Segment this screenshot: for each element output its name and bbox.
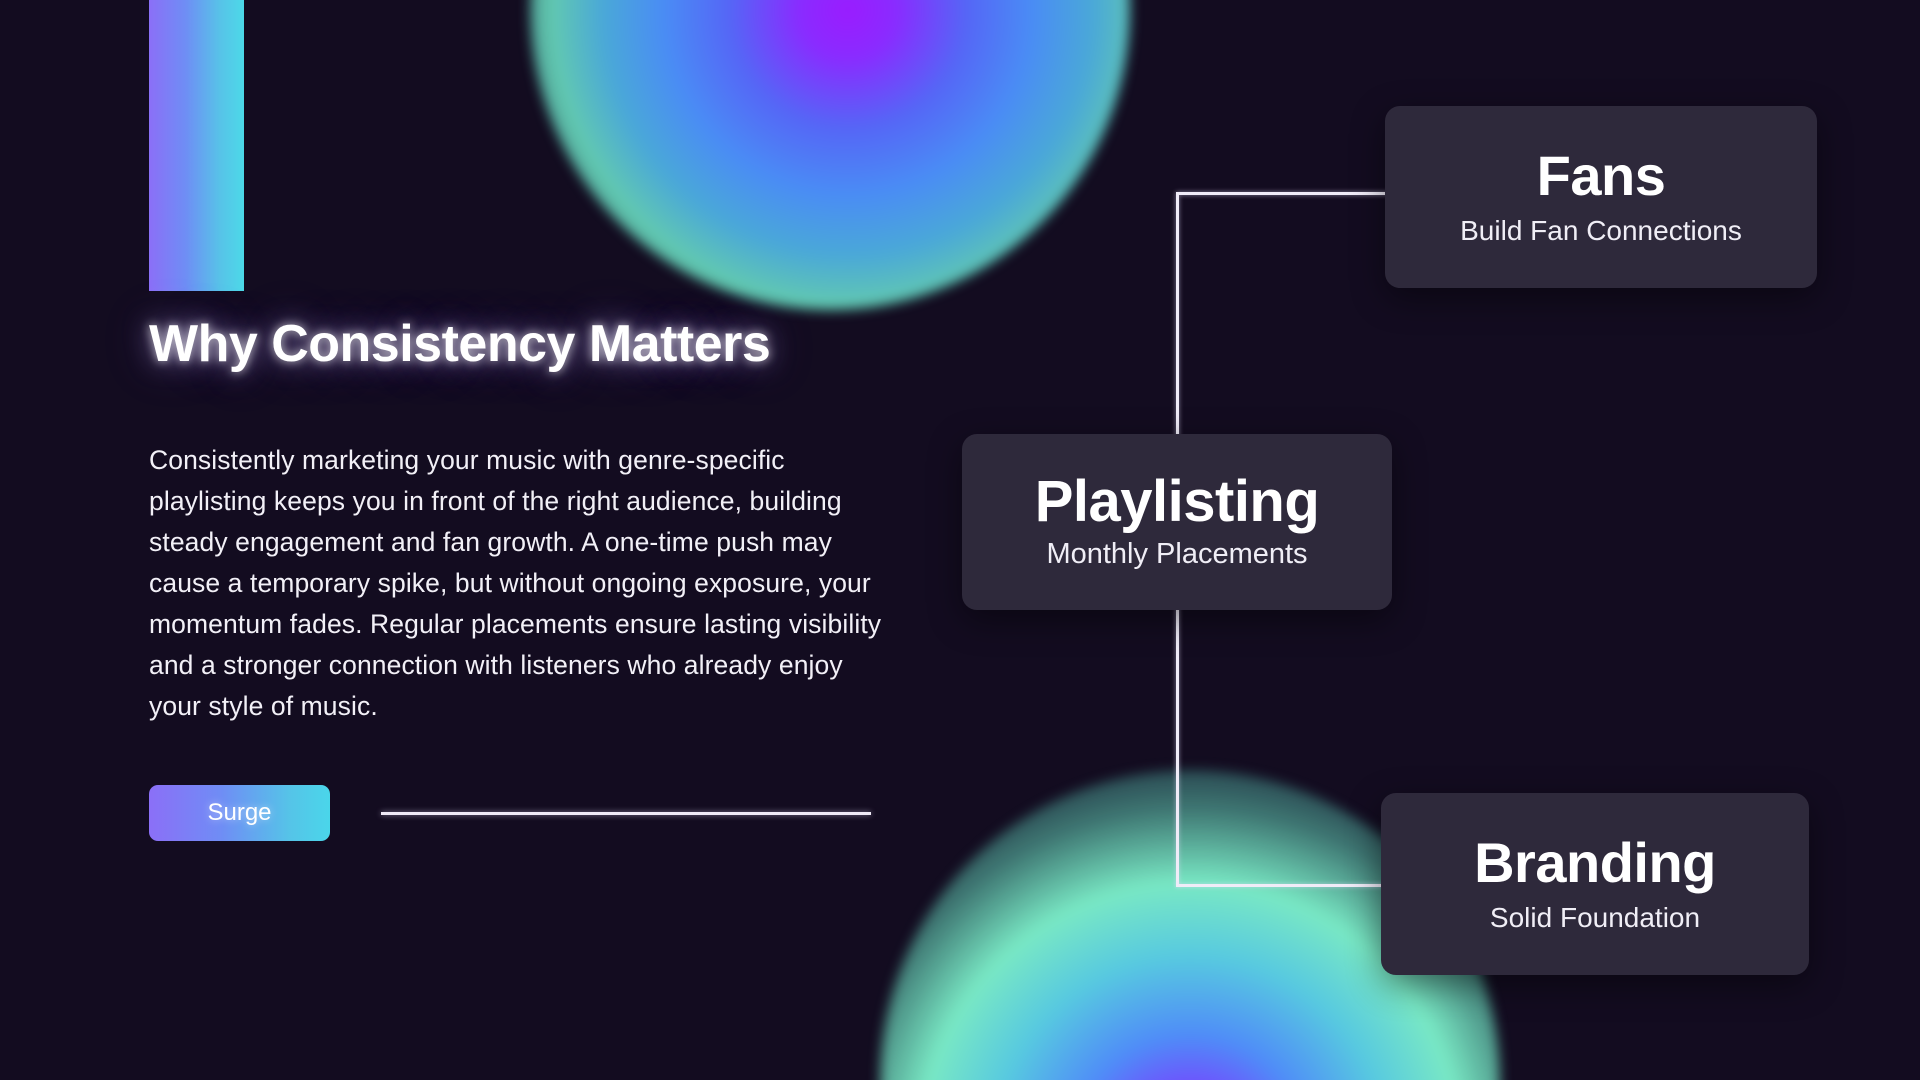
- node-title-branding: Branding: [1474, 834, 1716, 893]
- node-title-playlisting: Playlisting: [1035, 472, 1320, 533]
- node-card-branding[interactable]: Branding Solid Foundation: [1381, 793, 1809, 975]
- slide-canvas: Why Consistency Matters Consistently mar…: [0, 0, 1920, 1080]
- node-subtitle-playlisting: Monthly Placements: [1046, 537, 1307, 572]
- content-column: Why Consistency Matters Consistently mar…: [149, 316, 909, 841]
- node-card-fans[interactable]: Fans Build Fan Connections: [1385, 106, 1817, 288]
- cta-row: Surge: [149, 785, 909, 841]
- cta-divider-line: [381, 812, 871, 815]
- node-card-playlisting[interactable]: Playlisting Monthly Placements: [962, 434, 1392, 610]
- connector-branch-branding: [1176, 884, 1384, 887]
- node-subtitle-fans: Build Fan Connections: [1460, 214, 1742, 248]
- connector-branch-fans: [1176, 192, 1388, 195]
- page-title: Why Consistency Matters: [149, 316, 909, 372]
- gradient-blob-top: [530, 0, 1130, 310]
- surge-button[interactable]: Surge: [149, 785, 330, 841]
- body-paragraph: Consistently marketing your music with g…: [149, 440, 891, 727]
- accent-bar: [149, 0, 244, 291]
- node-subtitle-branding: Solid Foundation: [1490, 901, 1700, 935]
- node-title-fans: Fans: [1537, 147, 1666, 206]
